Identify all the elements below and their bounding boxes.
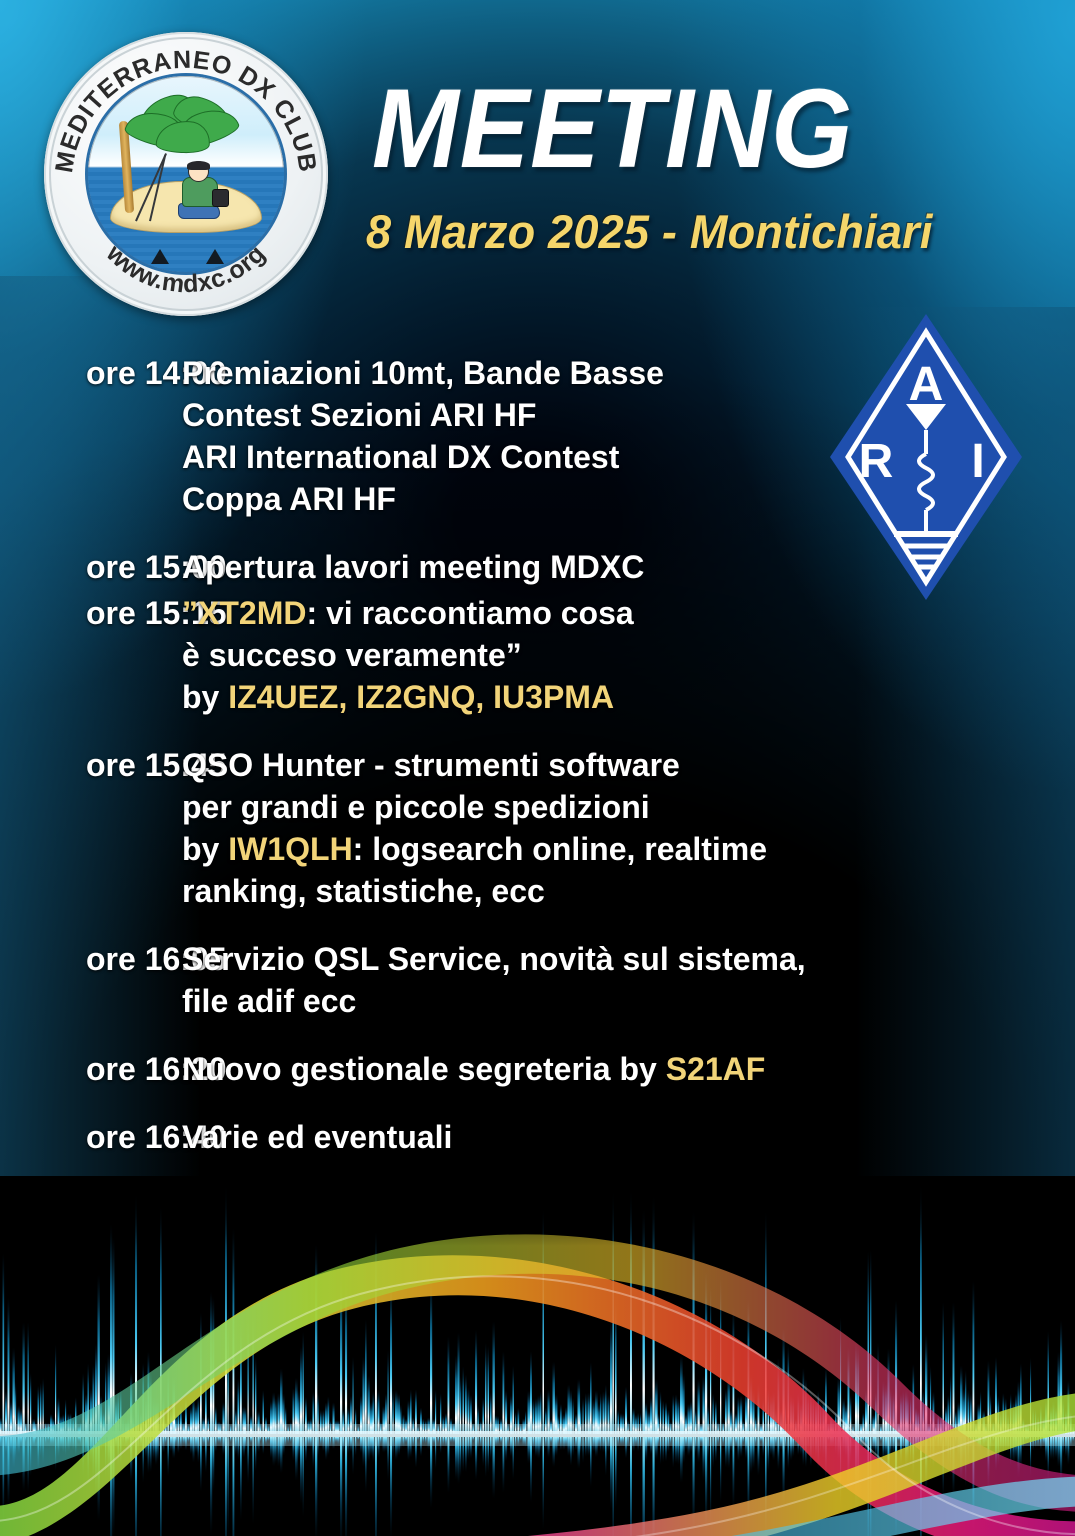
schedule-entry-time: ore 14:00 [0,352,182,520]
schedule-entry-line: QSO Hunter - strumenti software [182,744,1075,786]
schedule-entry-time: ore 15:15 [0,592,182,718]
schedule-text: Servizio QSL Service, novità sul sistema… [182,941,806,977]
callsign-highlight: ”XT2MD [182,595,306,631]
schedule-entry-time: ore 16:20 [0,1048,182,1090]
schedule-text: ARI International DX Contest [182,439,619,475]
schedule-entry-line: Apertura lavori meeting MDXC [182,546,1075,588]
schedule-entry-line: ”XT2MD: vi raccontiamo cosa [182,592,1075,634]
page-subtitle: 8 Marzo 2025 - Montichiari [366,204,933,259]
callsign-highlight: IW1QLH [228,831,352,867]
schedule-entry-time: ore 15:45 [0,744,182,912]
callsign-highlight: S21AF [666,1051,766,1087]
callsign-highlight: IZ4UEZ, IZ2GNQ, IU3PMA [228,679,614,715]
schedule-text: Contest Sezioni ARI HF [182,397,536,433]
schedule-entry-line: Nuovo gestionale segreteria by S21AF [182,1048,1075,1090]
schedule-entry: ore 16:40Varie ed eventuali [0,1116,1075,1158]
schedule-entry-line: ranking, statistiche, ecc [182,870,1075,912]
schedule-text: per grandi e piccole spedizioni [182,789,650,825]
schedule-text: : vi raccontiamo cosa [306,595,633,631]
schedule-entry-line: è succeso veramente” [182,634,1075,676]
schedule-entry-line: by IW1QLH: logsearch online, realtime [182,828,1075,870]
schedule-entry-line: Varie ed eventuali [182,1116,1075,1158]
schedule-entry-body: ”XT2MD: vi raccontiamo cosaè succeso ver… [182,592,1075,718]
logo-arc-text: MEDITERRANEO DX CLUB www.mdxc.org [44,32,328,316]
schedule-entry: ore 15:15”XT2MD: vi raccontiamo cosaè su… [0,592,1075,718]
schedule-text: Varie ed eventuali [182,1119,452,1155]
schedule-entry-time: ore 16:40 [0,1116,182,1158]
audio-waveform-graphic [0,1176,1075,1536]
schedule-entry-line: by IZ4UEZ, IZ2GNQ, IU3PMA [182,676,1075,718]
schedule-entry-line: Servizio QSL Service, novità sul sistema… [182,938,1075,980]
schedule-entry-line: file adif ecc [182,980,1075,1022]
schedule-text: Coppa ARI HF [182,481,396,517]
schedule-text: by [182,679,228,715]
schedule-entry: ore 14:00Premiazioni 10mt, Bande BasseCo… [0,352,1075,520]
schedule-entry-body: Servizio QSL Service, novità sul sistema… [182,938,1075,1022]
logo-arc-bottom-text: www.mdxc.org [100,239,271,299]
schedule-entry-body: Premiazioni 10mt, Bande BasseContest Sez… [182,352,1075,520]
schedule-entry-line: ARI International DX Contest [182,436,1075,478]
schedule-list: ore 14:00Premiazioni 10mt, Bande BasseCo… [0,352,1075,1252]
poster-canvas: MEDITERRANEO DX CLUB www.mdxc.org MEETIN… [0,0,1075,1536]
page-title: MEETING [372,74,853,184]
schedule-entry: ore 15:00Apertura lavori meeting MDXC [0,546,1075,588]
schedule-text: ranking, statistiche, ecc [182,873,545,909]
logo-arc-top-text: MEDITERRANEO DX CLUB [50,46,322,175]
poster-header: MEDITERRANEO DX CLUB www.mdxc.org MEETIN… [0,0,1075,320]
schedule-entry-body: QSO Hunter - strumenti softwareper grand… [182,744,1075,912]
schedule-entry-line: Contest Sezioni ARI HF [182,394,1075,436]
schedule-text: by [182,831,228,867]
schedule-entry-body: Nuovo gestionale segreteria by S21AF [182,1048,1075,1090]
schedule-entry-time: ore 15:00 [0,546,182,588]
schedule-entry: ore 16:05Servizio QSL Service, novità su… [0,938,1075,1022]
schedule-text: QSO Hunter - strumenti software [182,747,680,783]
schedule-text: Apertura lavori meeting MDXC [182,549,644,585]
schedule-text: file adif ecc [182,983,356,1019]
schedule-text: : logsearch online, realtime [353,831,767,867]
schedule-entry-body: Apertura lavori meeting MDXC [182,546,1075,588]
mdxc-logo: MEDITERRANEO DX CLUB www.mdxc.org [44,32,328,316]
schedule-text: Premiazioni 10mt, Bande Basse [182,355,664,391]
schedule-entry: ore 15:45QSO Hunter - strumenti software… [0,744,1075,912]
schedule-entry-line: Coppa ARI HF [182,478,1075,520]
schedule-entry-line: per grandi e piccole spedizioni [182,786,1075,828]
schedule-entry-time: ore 16:05 [0,938,182,1022]
schedule-entry-line: Premiazioni 10mt, Bande Basse [182,352,1075,394]
schedule-text: Nuovo gestionale segreteria by [182,1051,666,1087]
schedule-entry: ore 16:20Nuovo gestionale segreteria by … [0,1048,1075,1090]
schedule-text: è succeso veramente” [182,637,522,673]
schedule-entry-body: Varie ed eventuali [182,1116,1075,1158]
